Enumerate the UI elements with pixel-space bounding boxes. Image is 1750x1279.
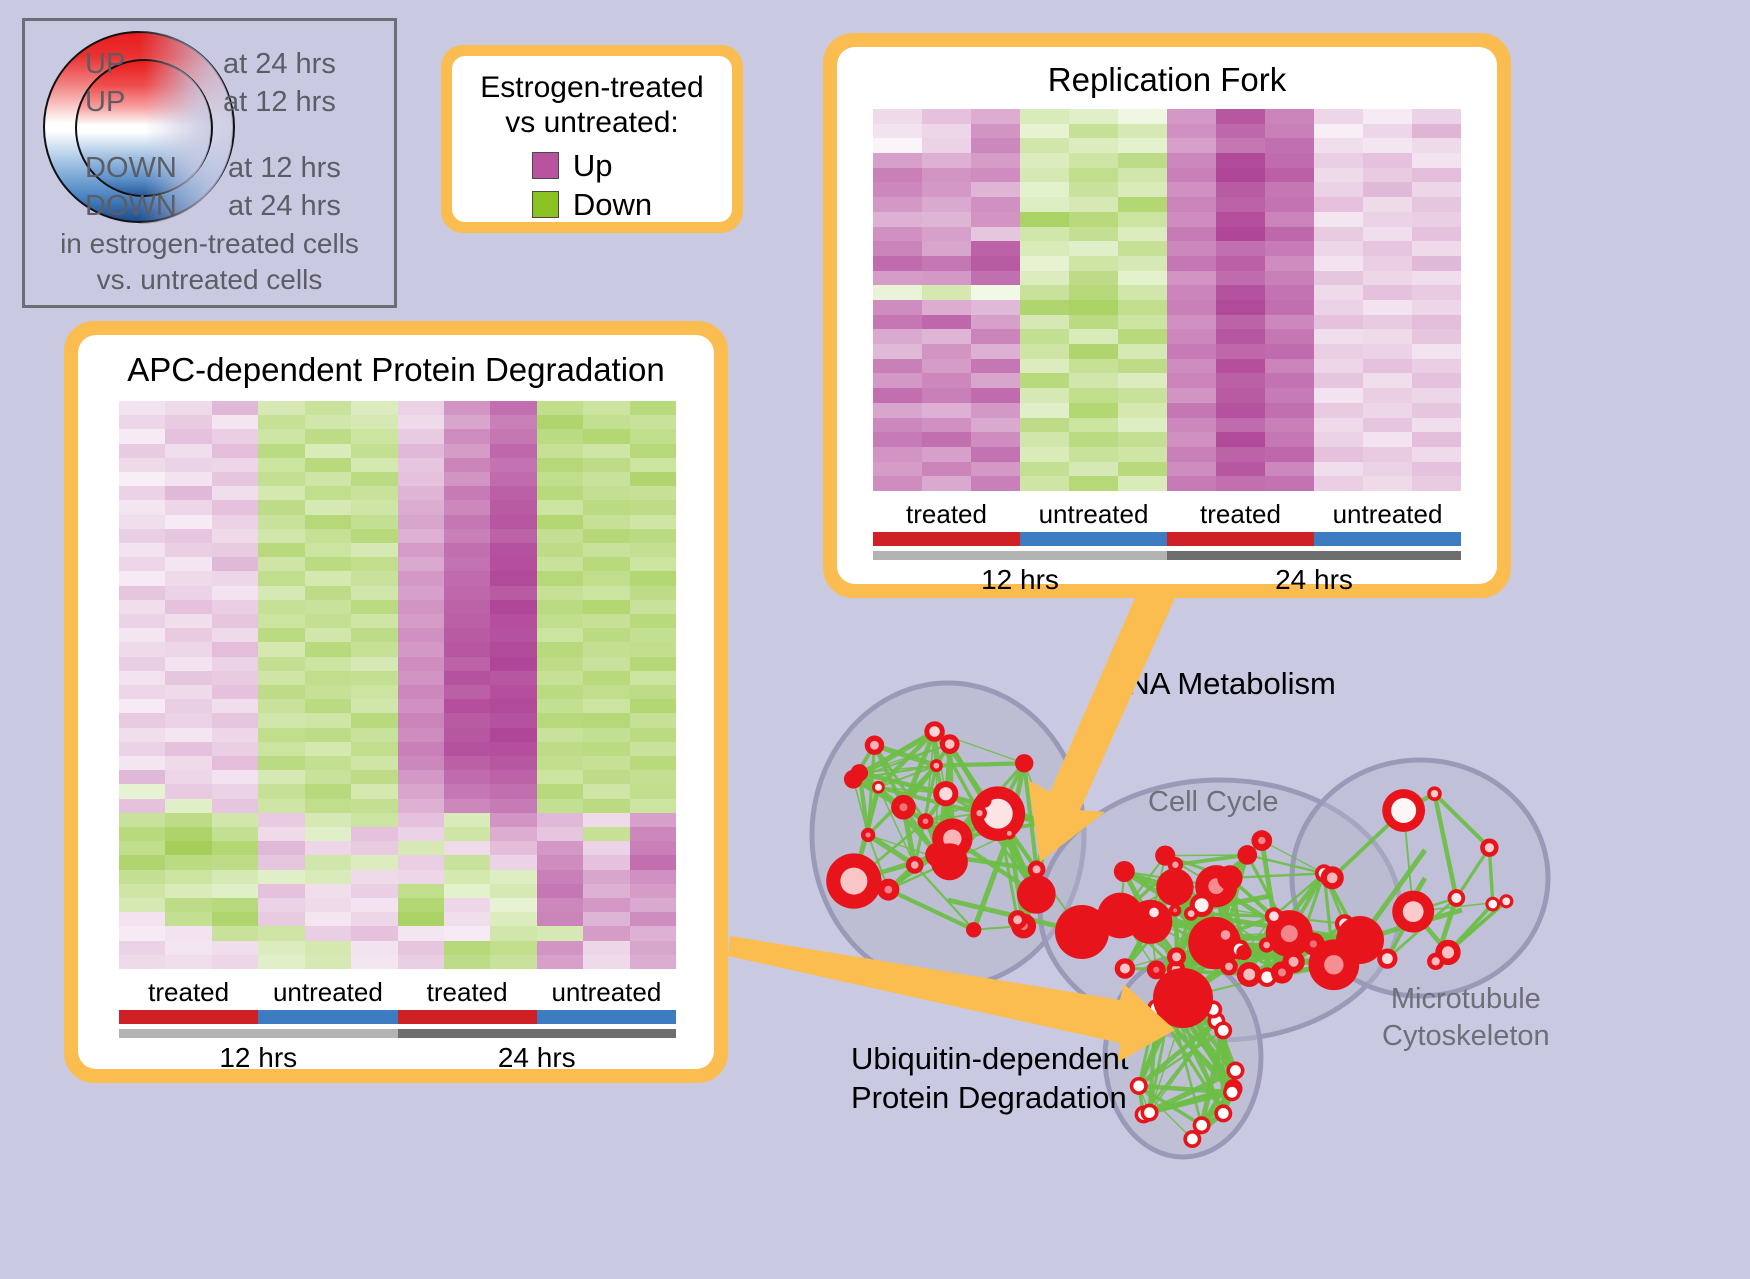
heatmap-cell (305, 543, 351, 557)
heatmap-cell (1216, 432, 1265, 447)
network-node[interactable] (1382, 789, 1425, 832)
heatmap-cell (165, 813, 211, 827)
heatmap-cell (1363, 315, 1412, 330)
heatmap-cell (258, 557, 304, 571)
heatmap-cell (212, 713, 258, 727)
heatmap-cell (1118, 124, 1167, 139)
heatmap-cell (490, 600, 536, 614)
node-inner-core (866, 832, 871, 837)
heatmap-cell (165, 884, 211, 898)
network-node[interactable] (1214, 923, 1238, 947)
network-node[interactable] (1153, 968, 1213, 1028)
network-node[interactable] (1259, 937, 1274, 952)
heatmap-cell (583, 813, 629, 827)
heatmap-cell (583, 444, 629, 458)
heatmap-cell (1167, 168, 1216, 183)
heatmap-cell (1167, 271, 1216, 286)
heatmap-cell (873, 447, 922, 462)
heatmap-cell (1216, 315, 1265, 330)
node-inner-core (1269, 911, 1279, 921)
node-inner-core (1431, 790, 1438, 797)
heatmap-cell (1363, 447, 1412, 462)
heatmap-cell (1020, 462, 1069, 477)
heatmap-cell (1167, 447, 1216, 462)
network-node[interactable] (1485, 897, 1500, 912)
heatmap-cell (444, 472, 490, 486)
heatmap-cell (444, 770, 490, 784)
heatmap-cell (258, 756, 304, 770)
heatmap-cell (537, 926, 583, 940)
heatmap-cell (305, 685, 351, 699)
heatmap-cell (630, 529, 676, 543)
heatmap-cell (398, 955, 444, 969)
heatmap-cell (1069, 153, 1118, 168)
network-node[interactable] (1223, 1083, 1241, 1101)
network-node[interactable] (1302, 933, 1325, 956)
heatmap-cell (444, 926, 490, 940)
panel-apc-title: APC-dependent Protein Degradation (78, 351, 714, 389)
heatmap-cell (351, 941, 397, 955)
heatmap-cell (212, 799, 258, 813)
heatmap-cell (630, 628, 676, 642)
heatmap-cell (351, 472, 397, 486)
network-node[interactable] (1115, 958, 1136, 979)
heatmap-cell (537, 827, 583, 841)
network-node[interactable] (1427, 953, 1444, 970)
sample-labels-apc: treateduntreatedtreateduntreated (119, 977, 676, 1008)
legend-row-2-label: DOWN (85, 152, 177, 185)
heatmap-cell (971, 403, 1020, 418)
network-node[interactable] (1220, 958, 1238, 976)
heatmap-cell (258, 941, 304, 955)
heatmap-cell (1412, 227, 1461, 242)
network-node[interactable] (1237, 962, 1262, 987)
network-node[interactable] (1321, 866, 1344, 889)
heatmap-cell (922, 227, 971, 242)
heatmap-cell (212, 784, 258, 798)
heatmap-cell (1069, 168, 1118, 183)
heatmap-cell (398, 628, 444, 642)
network-node[interactable] (918, 813, 934, 829)
network-node[interactable] (1055, 905, 1109, 959)
heatmap-cell (1020, 212, 1069, 227)
heatmap-cell (1069, 300, 1118, 315)
network-node[interactable] (861, 828, 875, 842)
heatmap-cell (119, 756, 165, 770)
heatmap-cell (398, 614, 444, 628)
heatmap-cell (1020, 241, 1069, 256)
heatmap-cell (1412, 432, 1461, 447)
node-inner-core (1149, 908, 1159, 918)
heatmap-cell (583, 926, 629, 940)
heatmap-cell (305, 472, 351, 486)
heatmap-cell (165, 571, 211, 585)
heatmap-cell (1412, 388, 1461, 403)
heatmap-cell (537, 728, 583, 742)
heatmap-cell (398, 458, 444, 472)
heatmap-cell (537, 884, 583, 898)
heatmap-cell (444, 870, 490, 884)
heatmap-cell (1412, 285, 1461, 300)
heatmap-cell (1363, 403, 1412, 418)
heatmap-cell (1167, 388, 1216, 403)
heatmap-cell (873, 124, 922, 139)
heatmap-cell (212, 415, 258, 429)
heatmap-cell (305, 827, 351, 841)
heatmap-cell (165, 429, 211, 443)
heatmap-cell (630, 699, 676, 713)
network-node[interactable] (933, 781, 958, 806)
heatmap-cell (351, 784, 397, 798)
heatmap-cell (119, 586, 165, 600)
heatmap-cell (971, 197, 1020, 212)
network-node[interactable] (1448, 889, 1466, 907)
heatmap-cell (1020, 315, 1069, 330)
heatmap-cell (583, 486, 629, 500)
heatmap-cell (119, 770, 165, 784)
network-node[interactable] (1156, 868, 1193, 905)
heatmap-cell (1265, 182, 1314, 197)
heatmap-cell (583, 557, 629, 571)
node-inner-core (1033, 865, 1041, 873)
heatmap-cell (537, 600, 583, 614)
node-inner-core (1133, 1081, 1144, 1092)
treatment-colorbar-apc (119, 1010, 676, 1024)
network-node[interactable] (844, 770, 863, 789)
heatmap-cell (258, 784, 304, 798)
sample-group-label: untreated (258, 977, 397, 1008)
network-node[interactable] (1184, 906, 1198, 920)
heatmap-cell (165, 642, 211, 656)
heatmap-cell (212, 813, 258, 827)
heatmap-cell (630, 642, 676, 656)
heatmap-cell (922, 432, 971, 447)
node-inner-core (1221, 930, 1231, 940)
heatmap-cell (258, 728, 304, 742)
network-node[interactable] (1336, 916, 1384, 964)
heatmap-cell (351, 884, 397, 898)
heatmap-cell (1412, 329, 1461, 344)
ubiquitin-line-1: Ubiquitin-dependent (851, 1039, 1129, 1078)
network-node[interactable] (1145, 904, 1162, 921)
network-node[interactable] (1008, 910, 1027, 929)
heatmap-cell (119, 429, 165, 443)
heatmap-cell (1412, 300, 1461, 315)
heatmap-cell (258, 884, 304, 898)
node-outer-ring (844, 770, 863, 789)
heatmap-cell (351, 586, 397, 600)
network-node[interactable] (826, 853, 881, 908)
heatmap-cell (1265, 315, 1314, 330)
heatmap-cell (1020, 476, 1069, 491)
heatmap-cell (630, 671, 676, 685)
timepoint-bar-segment (119, 1029, 398, 1038)
heatmap-cell (398, 401, 444, 415)
network-node[interactable] (924, 721, 944, 741)
network-node[interactable] (865, 736, 884, 755)
heatmap-cell (1020, 285, 1069, 300)
heatmap-cell (212, 841, 258, 855)
heatmap-cell (1265, 168, 1314, 183)
network-node[interactable] (1214, 1021, 1232, 1039)
heatmap-cell (630, 586, 676, 600)
heatmap-cell (1167, 329, 1216, 344)
heatmap-cell (537, 486, 583, 500)
microtubule-line-2: Cytoskeleton (1382, 1018, 1550, 1055)
network-node[interactable] (1141, 1104, 1159, 1122)
heatmap-cell (444, 827, 490, 841)
heatmap-cell (119, 898, 165, 912)
heatmap-cell (1020, 388, 1069, 403)
network-node[interactable] (966, 922, 981, 937)
heatmap-cell (119, 401, 165, 415)
node-inner-core (1310, 940, 1317, 947)
heatmap-cell (1118, 447, 1167, 462)
heatmap-cell (398, 571, 444, 585)
heatmap-cell (583, 543, 629, 557)
network-node[interactable] (891, 795, 916, 820)
heatmap-cell (119, 841, 165, 855)
heatmap-cell (873, 432, 922, 447)
heatmap-cell (1216, 256, 1265, 271)
network-node[interactable] (1167, 947, 1186, 966)
network-node[interactable] (1480, 838, 1498, 856)
heatmap-cell (398, 827, 444, 841)
heatmap-cell (351, 728, 397, 742)
heatmap-cell (922, 373, 971, 388)
heatmap-cell (971, 359, 1020, 374)
heatmap-cell (444, 557, 490, 571)
heatmap-cell (922, 447, 971, 462)
network-node[interactable] (1114, 861, 1135, 882)
node-outer-ring (1055, 905, 1109, 959)
heatmap-cell (305, 486, 351, 500)
heatmap-cell (537, 841, 583, 855)
network-node[interactable] (976, 793, 991, 808)
heatmap-cell (212, 912, 258, 926)
network-node[interactable] (1155, 846, 1175, 866)
heatmap-cell (537, 515, 583, 529)
heatmap-cell (1412, 153, 1461, 168)
node-outer-ring (1217, 865, 1242, 890)
network-node[interactable] (1237, 845, 1257, 865)
heatmap-cell (398, 586, 444, 600)
network-node[interactable] (1427, 786, 1442, 801)
node-inner-core (1502, 897, 1510, 905)
heatmap-cell (1216, 153, 1265, 168)
network-node[interactable] (906, 856, 924, 874)
heatmap-cell (1167, 182, 1216, 197)
heatmap-cell (444, 429, 490, 443)
heatmap-cell (398, 600, 444, 614)
heatmap-cell (398, 728, 444, 742)
network-node[interactable] (925, 843, 949, 867)
heatmap-cell (490, 657, 536, 671)
heatmap-cell (971, 138, 1020, 153)
heatmap-cell (1167, 418, 1216, 433)
network-node[interactable] (1169, 904, 1181, 916)
heatmap-cell (398, 415, 444, 429)
heatmap-cell (305, 429, 351, 443)
heatmap-cell (119, 657, 165, 671)
heatmap-cell (398, 770, 444, 784)
network-node[interactable] (1226, 1062, 1244, 1080)
network-node[interactable] (872, 781, 885, 794)
heatmap-cell (351, 671, 397, 685)
heatmap-cell (258, 657, 304, 671)
heatmap-cell (398, 543, 444, 557)
heatmap-cell (212, 756, 258, 770)
network-node[interactable] (1028, 861, 1046, 879)
heatmap-cell (305, 713, 351, 727)
heatmap-cell (444, 955, 490, 969)
network-node[interactable] (1251, 830, 1272, 851)
panel-replication-inner: Replication Fork treateduntreatedtreated… (837, 47, 1497, 584)
network-node[interactable] (1265, 907, 1283, 925)
heatmap-cell (444, 799, 490, 813)
heatmap-cell (971, 476, 1020, 491)
heatmap-cell (1216, 227, 1265, 242)
heatmap-cell (305, 401, 351, 415)
heatmap-cell (971, 241, 1020, 256)
heatmap-cell (165, 415, 211, 429)
network-node[interactable] (1217, 865, 1242, 890)
heatmap-cell (1020, 344, 1069, 359)
heatmap-cell (1265, 418, 1314, 433)
heatmap-cell (258, 401, 304, 415)
network-node[interactable] (1130, 1077, 1148, 1095)
heatmap-cell (873, 300, 922, 315)
network-node[interactable] (972, 806, 987, 821)
legend-row-0-value: at 24 hrs (223, 48, 336, 81)
heatmap-cell (1216, 182, 1265, 197)
network-node[interactable] (1038, 812, 1057, 831)
node-outer-ring (1236, 945, 1251, 960)
heatmap-cell (1412, 418, 1461, 433)
heatmap-cell (537, 614, 583, 628)
network-node[interactable] (930, 759, 943, 772)
heatmap-cell (444, 841, 490, 855)
heatmap-cell (398, 444, 444, 458)
heatmap-cell (490, 472, 536, 486)
heatmap-cell (630, 827, 676, 841)
heatmap-cell (212, 401, 258, 415)
network-node[interactable] (1392, 891, 1434, 933)
heatmap-replication-fork (873, 109, 1461, 491)
heatmap-cell (1265, 241, 1314, 256)
heatmap-cell (490, 884, 536, 898)
heatmap-cell (1020, 373, 1069, 388)
network-node[interactable] (1499, 894, 1513, 908)
heatmap-cell (444, 401, 490, 415)
heatmap-cell (351, 642, 397, 656)
network-node[interactable] (1003, 827, 1015, 839)
node-inner-core (1172, 952, 1181, 961)
network-node[interactable] (1214, 1104, 1232, 1122)
heatmap-cell (258, 500, 304, 514)
treatment-colorbar-replication (873, 532, 1461, 546)
heatmap-cell (1216, 212, 1265, 227)
node-inner-core (1043, 818, 1051, 826)
legend-row-1-value: at 12 hrs (223, 86, 336, 119)
network-node[interactable] (877, 879, 899, 901)
node-inner-core (840, 868, 867, 895)
heatmap-cell (1167, 476, 1216, 491)
heatmap-cell (119, 799, 165, 813)
heatmap-cell (490, 642, 536, 656)
heatmap-cell (583, 586, 629, 600)
heatmap-cell (165, 855, 211, 869)
node-inner-core (1196, 1120, 1207, 1131)
network-node[interactable] (1236, 945, 1251, 960)
heatmap-cell (212, 458, 258, 472)
heatmap-cell (258, 699, 304, 713)
heatmap-cell (212, 926, 258, 940)
heatmap-cell (1216, 168, 1265, 183)
heatmap-cell (971, 300, 1020, 315)
heatmap-cell (630, 770, 676, 784)
heatmap-cell (1265, 256, 1314, 271)
heatmap-cell (1265, 109, 1314, 124)
network-node[interactable] (1271, 961, 1293, 983)
heatmap-cell (258, 713, 304, 727)
heatmap-cell (165, 657, 211, 671)
heatmap-cell (1167, 227, 1216, 242)
network-node[interactable] (1017, 875, 1056, 914)
heatmap-cell (1314, 138, 1363, 153)
heatmap-cell (1020, 403, 1069, 418)
up-label: Up (573, 148, 613, 184)
heatmap-cell (444, 941, 490, 955)
heatmap-cell (1118, 344, 1167, 359)
heatmap-cell (1069, 403, 1118, 418)
heatmap-cell (1069, 462, 1118, 477)
network-node[interactable] (1015, 754, 1033, 772)
heatmap-cell (444, 784, 490, 798)
heatmap-cell (398, 515, 444, 529)
heatmap-cell (444, 884, 490, 898)
heatmap-cell (630, 657, 676, 671)
node-inner-core (923, 818, 929, 824)
heatmap-cell (305, 628, 351, 642)
heatmap-cell (583, 827, 629, 841)
heatmap-cell (1118, 182, 1167, 197)
network-node[interactable] (1193, 1116, 1211, 1134)
heatmap-cell (1069, 271, 1118, 286)
heatmap-cell (537, 671, 583, 685)
heatmap-cell (398, 529, 444, 543)
heatmap-cell (351, 600, 397, 614)
heatmap-cell (971, 124, 1020, 139)
heatmap-cell (971, 153, 1020, 168)
heatmap-cell (583, 429, 629, 443)
node-inner-core (1403, 901, 1424, 922)
heatmap-cell (1363, 227, 1412, 242)
heatmap-cell (1363, 124, 1412, 139)
treatment-bar-segment (1020, 532, 1167, 546)
heatmap-cell (1167, 256, 1216, 271)
heatmap-cell (490, 571, 536, 585)
heatmap-cell (537, 713, 583, 727)
heatmap-cell (1314, 359, 1363, 374)
heatmap-cell (1167, 153, 1216, 168)
timepoint-bar-segment (873, 551, 1167, 560)
heatmap-cell (630, 884, 676, 898)
heatmap-cell (583, 628, 629, 642)
heatmap-cell (630, 543, 676, 557)
network-svg (800, 620, 1750, 1279)
heatmap-cell (490, 458, 536, 472)
